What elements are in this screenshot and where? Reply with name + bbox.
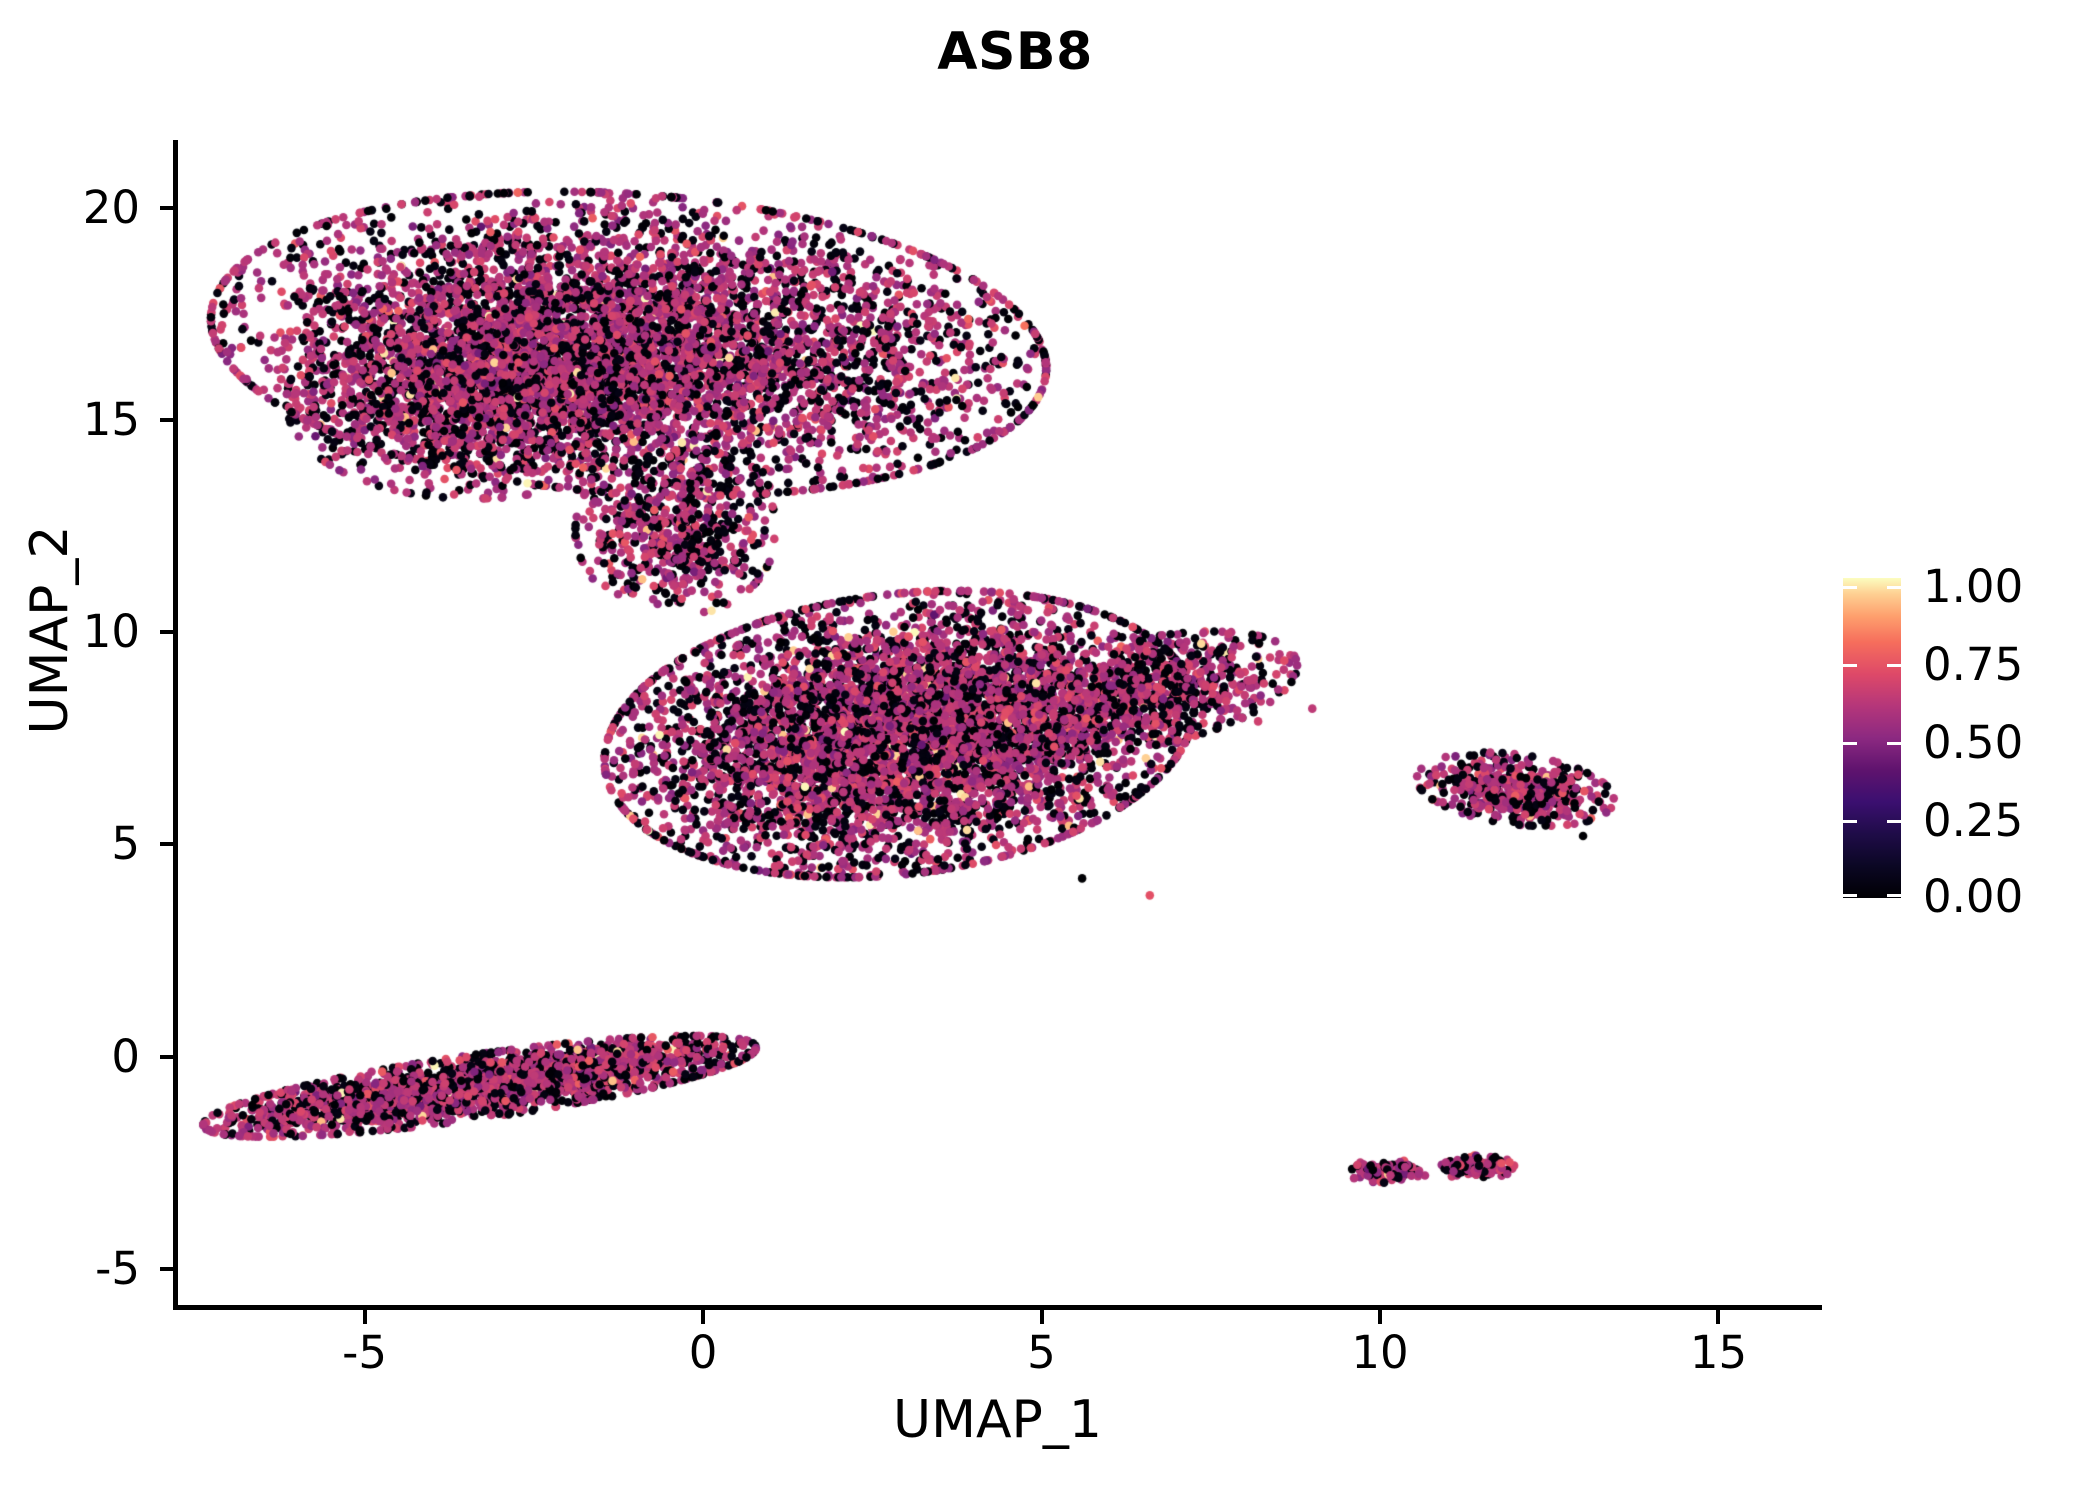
x-ticklabel-15: 15 bbox=[1648, 1330, 1788, 1375]
y-tick-10 bbox=[160, 630, 173, 634]
colorbar-tick-1.00-right bbox=[1887, 586, 1901, 589]
colorbar-gradient bbox=[1843, 578, 1901, 898]
colorbar-tick-0.75-right bbox=[1887, 664, 1901, 667]
colorbar-tick-1.00-left bbox=[1843, 586, 1857, 589]
y-ticklabel--5: -5 bbox=[20, 1246, 140, 1291]
colorbar-label-0.25: 0.25 bbox=[1923, 798, 2083, 843]
x-tick-15 bbox=[1716, 1310, 1720, 1324]
y-ticklabel-0: 0 bbox=[20, 1034, 140, 1079]
figure-root: ASB8 -505101520 -5051015 UMAP_1 UMAP_2 1… bbox=[0, 0, 2100, 1500]
x-ticklabel-10: 10 bbox=[1310, 1330, 1450, 1375]
colorbar-tick-0.00-left bbox=[1843, 894, 1857, 897]
scatter-points bbox=[175, 140, 1820, 1307]
colorbar: 1.00 0.75 0.50 0.25 0.00 bbox=[1843, 578, 2073, 908]
plot-area bbox=[175, 140, 1820, 1307]
x-ticklabel--5: -5 bbox=[295, 1330, 435, 1375]
y-ticklabel-20: 20 bbox=[20, 185, 140, 230]
x-tick-10 bbox=[1378, 1310, 1382, 1324]
y-tick--5 bbox=[160, 1267, 173, 1271]
colorbar-label-0.00: 0.00 bbox=[1923, 874, 2083, 919]
colorbar-tick-0.50-left bbox=[1843, 742, 1857, 745]
x-ticklabel-0: 0 bbox=[633, 1330, 773, 1375]
colorbar-tick-0.00-right bbox=[1887, 894, 1901, 897]
y-tick-0 bbox=[160, 1055, 173, 1059]
colorbar-label-0.75: 0.75 bbox=[1923, 642, 2083, 687]
y-tick-20 bbox=[160, 206, 173, 210]
x-tick-5 bbox=[1040, 1310, 1044, 1324]
x-axis-label: UMAP_1 bbox=[175, 1390, 1820, 1450]
y-tick-15 bbox=[160, 418, 173, 422]
y-tick-5 bbox=[160, 842, 173, 846]
y-axis-label: UMAP_2 bbox=[20, 280, 80, 980]
x-tick--5 bbox=[363, 1310, 367, 1324]
colorbar-label-0.50: 0.50 bbox=[1923, 720, 2083, 765]
colorbar-tick-0.25-right bbox=[1887, 820, 1901, 823]
x-ticklabel-5: 5 bbox=[972, 1330, 1112, 1375]
page-title: ASB8 bbox=[0, 22, 2030, 82]
colorbar-label-1.00: 1.00 bbox=[1923, 564, 2083, 609]
colorbar-tick-0.50-right bbox=[1887, 742, 1901, 745]
colorbar-tick-0.25-left bbox=[1843, 820, 1857, 823]
colorbar-tick-0.75-left bbox=[1843, 664, 1857, 667]
x-tick-0 bbox=[701, 1310, 705, 1324]
